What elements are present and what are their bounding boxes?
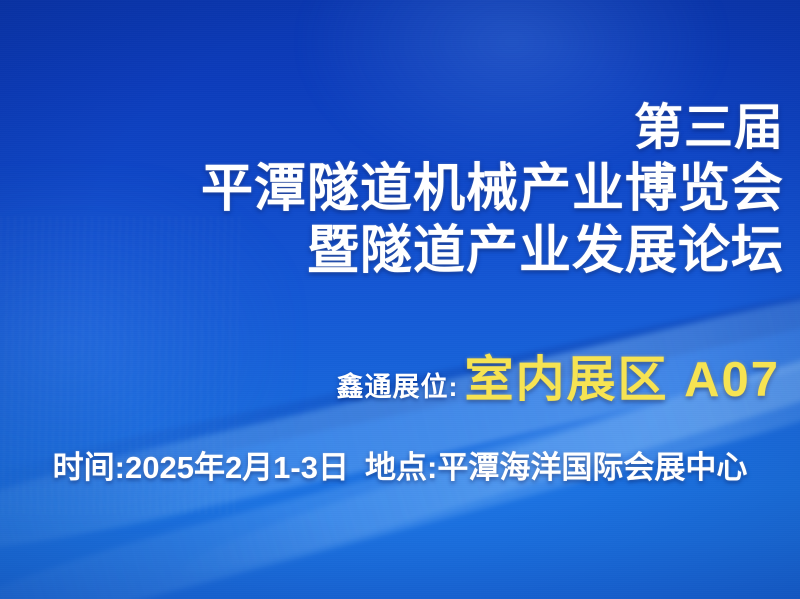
booth-number: 室内展区 A07 — [464, 340, 780, 411]
event-venue: 地点:平潭海洋国际会展中心 — [365, 442, 747, 487]
event-details-row: 时间:2025年2月1-3日 地点:平潭海洋国际会展中心 — [0, 442, 800, 487]
event-date: 时间:2025年2月1-3日 — [53, 442, 349, 487]
title-line-subtitle: 暨隧道产业发展论坛 — [201, 225, 784, 277]
title-line-main: 平潭隧道机械产业博览会 — [201, 163, 784, 215]
event-title-block: 第三届 平潭隧道机械产业博览会 暨隧道产业发展论坛 — [201, 104, 784, 277]
booth-label: 鑫通展位: — [336, 365, 458, 404]
booth-info-row: 鑫通展位: 室内展区 A07 — [336, 340, 780, 411]
event-poster: 第三届 平潭隧道机械产业博览会 暨隧道产业发展论坛 鑫通展位: 室内展区 A07… — [0, 0, 800, 599]
poster-content: 第三届 平潭隧道机械产业博览会 暨隧道产业发展论坛 鑫通展位: 室内展区 A07… — [0, 0, 800, 599]
title-line-edition: 第三届 — [201, 104, 784, 153]
